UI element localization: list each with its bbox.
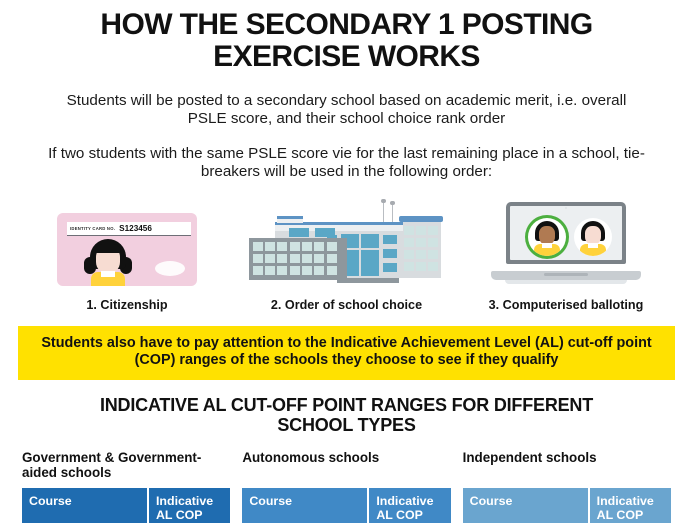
- table-header-cop: Indicative AL COP ranges: [588, 488, 671, 523]
- tiebreaker-caption-row: 1. Citizenship 2. Order of school choice…: [0, 286, 693, 312]
- tiebreaker-icon-row: IDENTITY CARD NO. S123456: [0, 182, 693, 286]
- laptop-balloting-icon: [491, 202, 641, 286]
- infographic-page: HOW THE SECONDARY 1 POSTING EXERCISE WOR…: [0, 0, 693, 523]
- tiebreaker-item-school-choice: [242, 196, 452, 286]
- caption-balloting: 3. Computerised balloting: [461, 298, 671, 312]
- caption-school-choice: 2. Order of school choice: [242, 298, 452, 312]
- identity-card-hologram: [155, 261, 185, 276]
- table-header-row: Course Indicative AL COP ranges: [463, 488, 671, 523]
- webcam-icon: [565, 207, 567, 209]
- table-header-cop: Indicative AL COP ranges: [147, 488, 230, 523]
- table-header-course: Course: [22, 488, 147, 523]
- laptop-lid: [506, 202, 626, 264]
- caption-citizenship: 1. Citizenship: [22, 298, 232, 312]
- callout-banner: Students also have to pay attention to t…: [18, 326, 675, 380]
- identity-card-number: S123456: [119, 224, 152, 233]
- section-title: INDICATIVE AL CUT-OFF POINT RANGES FOR D…: [0, 380, 693, 436]
- table-independent-schools: Independent schools Course Indicative AL…: [463, 450, 671, 523]
- identity-card-portrait: [85, 239, 131, 286]
- page-title: HOW THE SECONDARY 1 POSTING EXERCISE WOR…: [0, 0, 693, 74]
- table-title: Independent schools: [463, 450, 671, 484]
- identity-card-strip: IDENTITY CARD NO. S123456: [67, 222, 191, 236]
- tiebreaker-item-balloting: [461, 196, 671, 286]
- table-autonomous-schools: Autonomous schools Course Indicative AL …: [242, 450, 450, 523]
- avatar-unselected: [574, 218, 612, 256]
- table-government-schools: Government & Government-aided schools Co…: [22, 450, 230, 523]
- table-header-cop: Indicative AL COP ranges: [367, 488, 450, 523]
- table-header-row: Course Indicative AL COP ranges: [22, 488, 230, 523]
- school-building-icon: [249, 202, 445, 286]
- school-type-tables: Government & Government-aided schools Co…: [0, 436, 693, 523]
- identity-card-label: IDENTITY CARD NO.: [70, 226, 115, 231]
- laptop-screen: [510, 206, 622, 260]
- intro-paragraph-2: If two students with the same PSLE score…: [0, 128, 693, 181]
- table-header-course: Course: [463, 488, 588, 523]
- tiebreaker-item-citizenship: IDENTITY CARD NO. S123456: [22, 196, 232, 286]
- table-title: Government & Government-aided schools: [22, 450, 230, 484]
- identity-card-icon: IDENTITY CARD NO. S123456: [57, 213, 197, 286]
- laptop-foot: [505, 280, 627, 284]
- intro-paragraph-1: Students will be posted to a secondary s…: [0, 74, 693, 128]
- table-header-row: Course Indicative AL COP ranges: [242, 488, 450, 523]
- avatar-selected: [528, 218, 566, 256]
- laptop-base: [491, 271, 641, 280]
- table-header-course: Course: [242, 488, 367, 523]
- table-title: Autonomous schools: [242, 450, 450, 484]
